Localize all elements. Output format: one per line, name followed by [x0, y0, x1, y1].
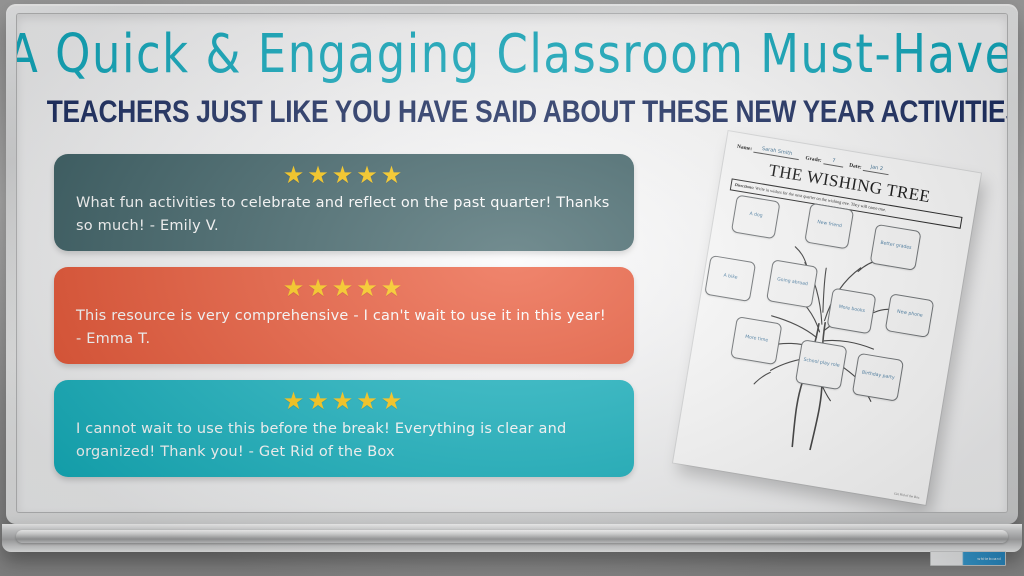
wish-box[interactable]: A dog	[731, 194, 781, 239]
field-value: 7	[823, 156, 844, 167]
brand-sticker: whiteboard	[930, 551, 1006, 566]
whiteboard-tray	[2, 524, 1022, 552]
testimonial-card-2: ★★★★★ This resource is very comprehensiv…	[54, 267, 634, 364]
star-rating-icon: ★★★★★	[76, 276, 612, 301]
star-rating-icon: ★★★★★	[76, 389, 612, 414]
whiteboard-frame: A Quick & Engaging Classroom Must-Have T…	[6, 4, 1018, 524]
content-area: ★★★★★ What fun activities to celebrate a…	[17, 142, 1007, 512]
wish-box[interactable]: Birthday party	[852, 353, 904, 402]
testimonial-quote: What fun activities to celebrate and ref…	[76, 192, 612, 237]
tray-lip	[16, 530, 1008, 543]
worksheet-field-grade: Grade: 7	[805, 153, 844, 167]
wish-box[interactable]: Going abroad	[766, 259, 818, 308]
star-rating-icon: ★★★★★	[76, 163, 612, 188]
testimonial-quote: I cannot wait to use this before the bre…	[76, 418, 612, 463]
wish-box[interactable]: A bike	[704, 255, 756, 302]
field-label: Grade:	[805, 155, 822, 164]
page-title: A Quick & Engaging Classroom Must-Have T…	[17, 28, 1007, 82]
page-subtitle: TEACHERS JUST LIKE YOU HAVE SAID ABOUT T…	[47, 94, 978, 130]
testimonial-card-3: ★★★★★ I cannot wait to use this before t…	[54, 380, 634, 477]
testimonial-card-1: ★★★★★ What fun activities to celebrate a…	[54, 154, 634, 251]
wish-box[interactable]: More books	[827, 287, 877, 334]
wish-box[interactable]: More time	[730, 316, 782, 365]
field-value: Jan 2	[863, 163, 890, 175]
directions-label: Directions:	[734, 182, 754, 190]
whiteboard-surface: A Quick & Engaging Classroom Must-Have T…	[17, 14, 1007, 512]
wishing-tree-diagram: A dog New friend Better grades A bike Go…	[690, 195, 960, 468]
worksheet-footer: Get Rid of the Box	[894, 492, 920, 500]
testimonial-list: ★★★★★ What fun activities to celebrate a…	[54, 154, 634, 493]
testimonial-quote: This resource is very comprehensive - I …	[76, 305, 612, 350]
wish-box[interactable]: New friend	[804, 203, 854, 250]
worksheet-page: Name: Sarah Smith Grade: 7 Date: Jan 2	[673, 131, 981, 505]
field-label: Name:	[737, 143, 753, 151]
wish-box[interactable]: School play role	[795, 339, 848, 390]
wish-box[interactable]: Better grades	[870, 224, 922, 271]
scene-background: A Quick & Engaging Classroom Must-Have T…	[0, 0, 1024, 576]
worksheet-field-date: Date: Jan 2	[849, 161, 890, 175]
field-label: Date:	[849, 162, 862, 170]
worksheet-preview: Name: Sarah Smith Grade: 7 Date: Jan 2	[657, 144, 1007, 504]
wish-box[interactable]: New phone	[885, 293, 935, 338]
